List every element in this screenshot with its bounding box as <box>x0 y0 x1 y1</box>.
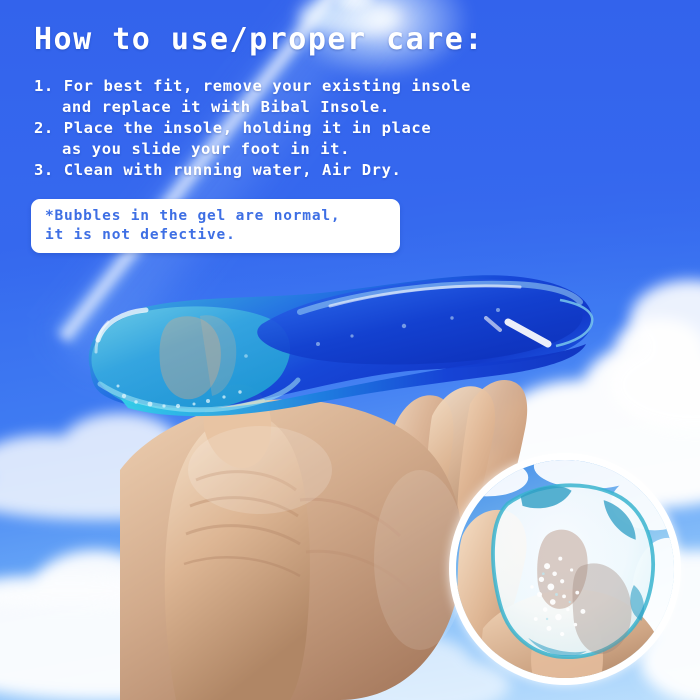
instruction-step-1-line-2: and replace it with Bibal Insole. <box>34 97 594 118</box>
instruction-step-2-line-2: as you slide your foot in it. <box>34 139 594 160</box>
page-title: How to use/proper care: <box>34 22 484 57</box>
instruction-step-1-line-1: 1. For best fit, remove your existing in… <box>34 76 594 97</box>
note-line-1: *Bubbles in the gel are normal, <box>45 207 386 226</box>
product-infographic: How to use/proper care: 1. For best fit,… <box>0 0 700 700</box>
instruction-step-2-line-1: 2. Place the insole, holding it in place <box>34 118 594 139</box>
detail-inset-circle <box>449 453 681 685</box>
detail-inset-content <box>449 453 681 685</box>
instruction-step-3-line-1: 3. Clean with running water, Air Dry. <box>34 160 594 181</box>
note-callout-box: *Bubbles in the gel are normal, it is no… <box>31 199 400 253</box>
note-line-2: it is not defective. <box>45 226 386 245</box>
instruction-list: 1. For best fit, remove your existing in… <box>34 76 594 181</box>
